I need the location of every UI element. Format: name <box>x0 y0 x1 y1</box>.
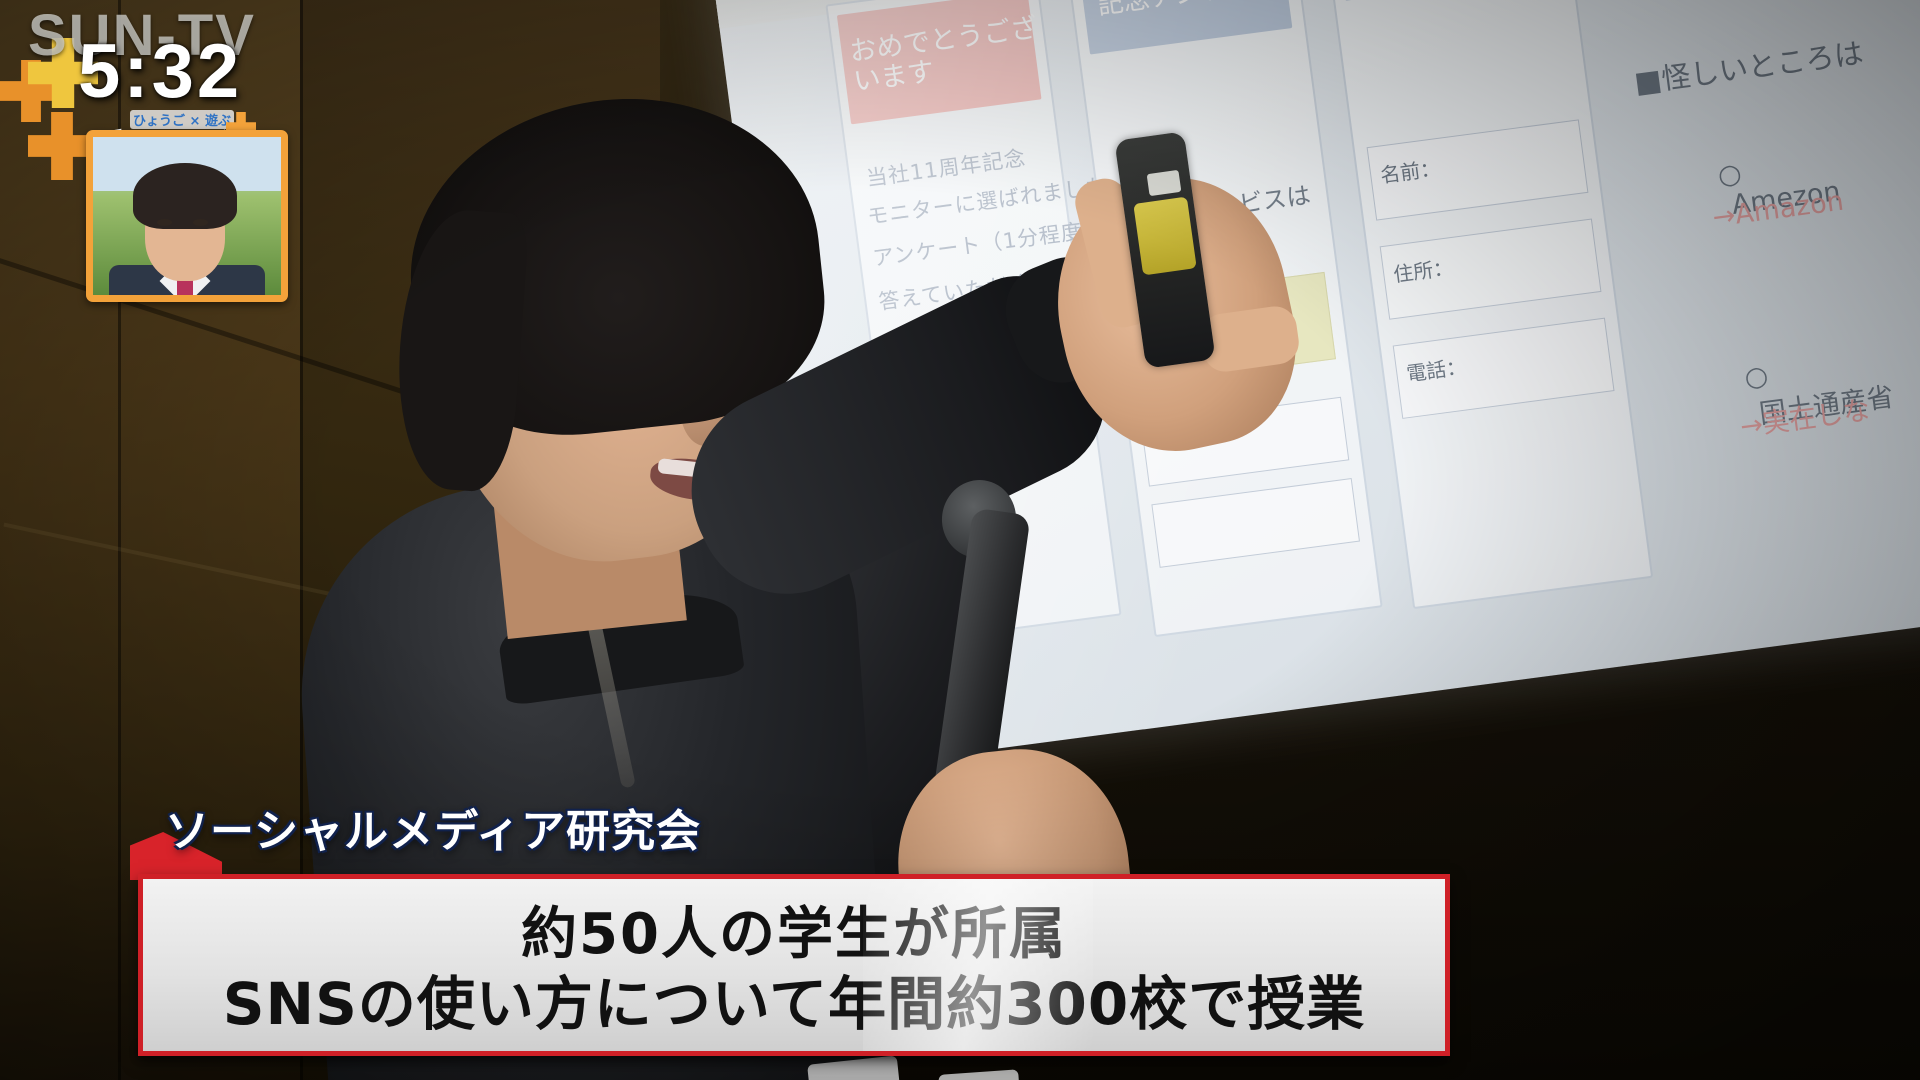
lower-third-line-2: SNSの使い方について年間約300校で授業 <box>143 957 1445 1041</box>
anchor-thumbnail <box>86 130 288 302</box>
anchor-hair <box>133 163 237 229</box>
onscreen-clock: 5:32 <box>78 28 242 115</box>
anchor-eye <box>157 219 172 226</box>
lower-third-title-text: ソーシャルメディア研究会 <box>165 795 701 859</box>
broadcast-frame: おめでとうございます 当社11周年記念 モニターに選ばれました アンケート（1分… <box>0 0 1920 1080</box>
anchor-eye <box>193 219 208 226</box>
lower-third-title: ソーシャルメディア研究会 <box>165 798 701 856</box>
lower-third-box: 約50人の学生が所属 SNSの使い方について年間約300校で授業 <box>138 874 1450 1056</box>
